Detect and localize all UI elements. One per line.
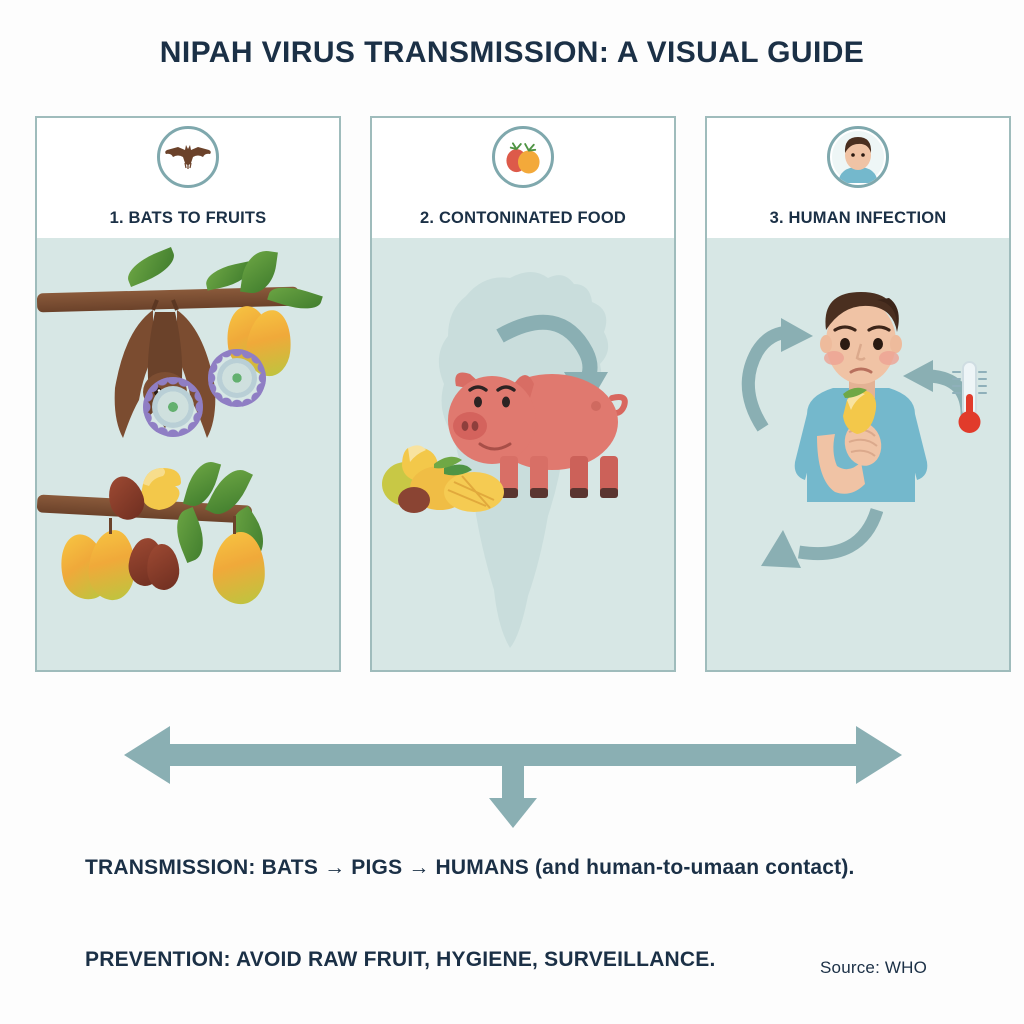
bitten-mango-glyph <box>137 466 187 512</box>
panel-1-header: 1. BATS TO FRUITS <box>37 118 339 238</box>
panel-3-header: 3. HUMAN INFECTION <box>707 118 1009 238</box>
fruit-pile-glyph <box>378 438 518 518</box>
panel-3-illustration <box>707 238 1009 670</box>
person-icon <box>827 126 889 188</box>
fruits-icon <box>492 126 554 188</box>
bitten-mango <box>137 466 187 512</box>
branch-leaf <box>123 247 179 287</box>
panel-2-label: 2. CONTONINATED FOOD <box>372 209 674 228</box>
transmission-flow-arrow <box>118 718 908 830</box>
fruit-pile <box>378 438 518 518</box>
person-glyph <box>777 286 945 526</box>
panel-3-label: 3. HUMAN INFECTION <box>707 209 1009 228</box>
source-credit: Source: WHO <box>820 958 927 978</box>
bat-icon-glyph <box>163 141 213 173</box>
panel-human-infection[interactable]: 3. HUMAN INFECTION <box>705 116 1011 672</box>
fever-thermometer <box>945 358 993 438</box>
mango-stem <box>109 518 112 534</box>
virus-particle <box>152 386 194 428</box>
person-icon-glyph <box>832 131 884 183</box>
bat-icon <box>157 126 219 188</box>
panel-1-label: 1. BATS TO FRUITS <box>37 209 339 228</box>
page-title: NIPAH VIRUS TRANSMISSION: A VISUAL GUIDE <box>0 36 1024 70</box>
sick-person <box>777 286 945 526</box>
flow-arrow-glyph <box>118 718 908 830</box>
panel-contaminated-food[interactable]: 2. CONTONINATED FOOD <box>370 116 676 672</box>
panel-row: 1. BATS TO FRUITS <box>35 116 1011 674</box>
panel-1-illustration <box>37 238 339 670</box>
panel-2-illustration <box>372 238 674 670</box>
fruits-icon-glyph <box>501 139 545 175</box>
panel-2-header: 2. CONTONINATED FOOD <box>372 118 674 238</box>
prevention-summary-text: PREVENTION: AVOID RAW FRUIT, HYGIENE, SU… <box>85 948 716 972</box>
virus-particle <box>217 358 257 398</box>
infographic-page: NIPAH VIRUS TRANSMISSION: A VISUAL GUIDE… <box>0 0 1024 1024</box>
transmission-summary-text: TRANSMISSION: BATS → PIGS → HUMANS (and … <box>85 856 855 880</box>
mango-stem <box>233 516 236 534</box>
panel-bats-to-fruits[interactable]: 1. BATS TO FRUITS <box>35 116 341 672</box>
thermometer-glyph <box>945 358 993 438</box>
